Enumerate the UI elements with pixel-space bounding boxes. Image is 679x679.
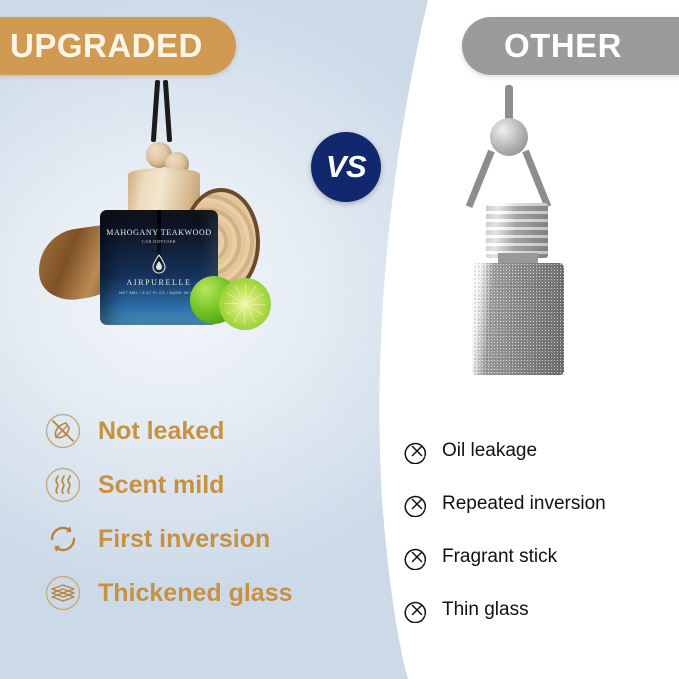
comparison-infographic: UPGRADED OTHER VS MAHOGANY TEAKWOOD CAR … [0,0,679,679]
layered-glass-icon [44,574,82,612]
other-bottle-cap-ridges [486,203,548,258]
lime-half-prop [219,278,271,330]
feature-label: Not leaked [98,417,224,446]
hanging-cord-left [151,80,160,142]
drawback-item-repeated-inversion: Repeated inversion [404,477,664,530]
vs-badge: VS [311,132,381,202]
feature-item-thickened-glass: Thickened glass [44,566,364,620]
other-bead [490,118,528,156]
rotate-arrows-icon [44,520,82,558]
drawback-label: Thin glass [442,599,529,621]
circle-x-icon [404,544,430,570]
other-badge: OTHER [462,17,679,75]
bottle-label-title: MAHOGANY TEAKWOOD [100,228,218,237]
drawback-label: Repeated inversion [442,493,606,515]
upgraded-badge: UPGRADED [0,17,236,75]
other-product-image [440,85,620,360]
hanging-cord-right [163,80,172,142]
other-badge-label: OTHER [504,27,622,65]
circle-x-icon [404,597,430,623]
other-bottle-body [472,263,564,375]
vs-label: VS [326,149,366,185]
other-cord-strand-right [522,150,551,208]
feature-label: First inversion [98,525,270,554]
upgraded-badge-label: UPGRADED [10,27,203,65]
drawback-item-oil-leakage: Oil leakage [404,424,664,477]
other-feature-list: Oil leakage Repeated inversion Fragrant … [404,424,664,636]
feature-item-first-inversion: First inversion [44,512,364,566]
no-leak-icon [44,412,82,450]
drawback-item-thin-glass: Thin glass [404,583,664,636]
other-cord-strand-left [466,150,495,208]
drawback-label: Fragrant stick [442,546,557,568]
circle-x-icon [404,438,430,464]
feature-item-scent-mild: Scent mild [44,458,364,512]
other-bottle-texture [472,263,564,375]
feature-label: Scent mild [98,471,224,500]
upgraded-product-image: MAHOGANY TEAKWOOD CAR DIFFUSER AIRPURELL… [10,80,310,365]
bottle-label-subtitle: CAR DIFFUSER [100,239,218,244]
feature-label: Thickened glass [98,579,293,608]
circle-x-icon [404,491,430,517]
feature-item-not-leaked: Not leaked [44,404,364,458]
upgraded-feature-list: Not leaked Scent mild [44,404,364,620]
drawback-item-fragrant-stick: Fragrant stick [404,530,664,583]
droplet-logo-icon [151,254,167,274]
drawback-label: Oil leakage [442,440,537,462]
scent-waves-icon [44,466,82,504]
